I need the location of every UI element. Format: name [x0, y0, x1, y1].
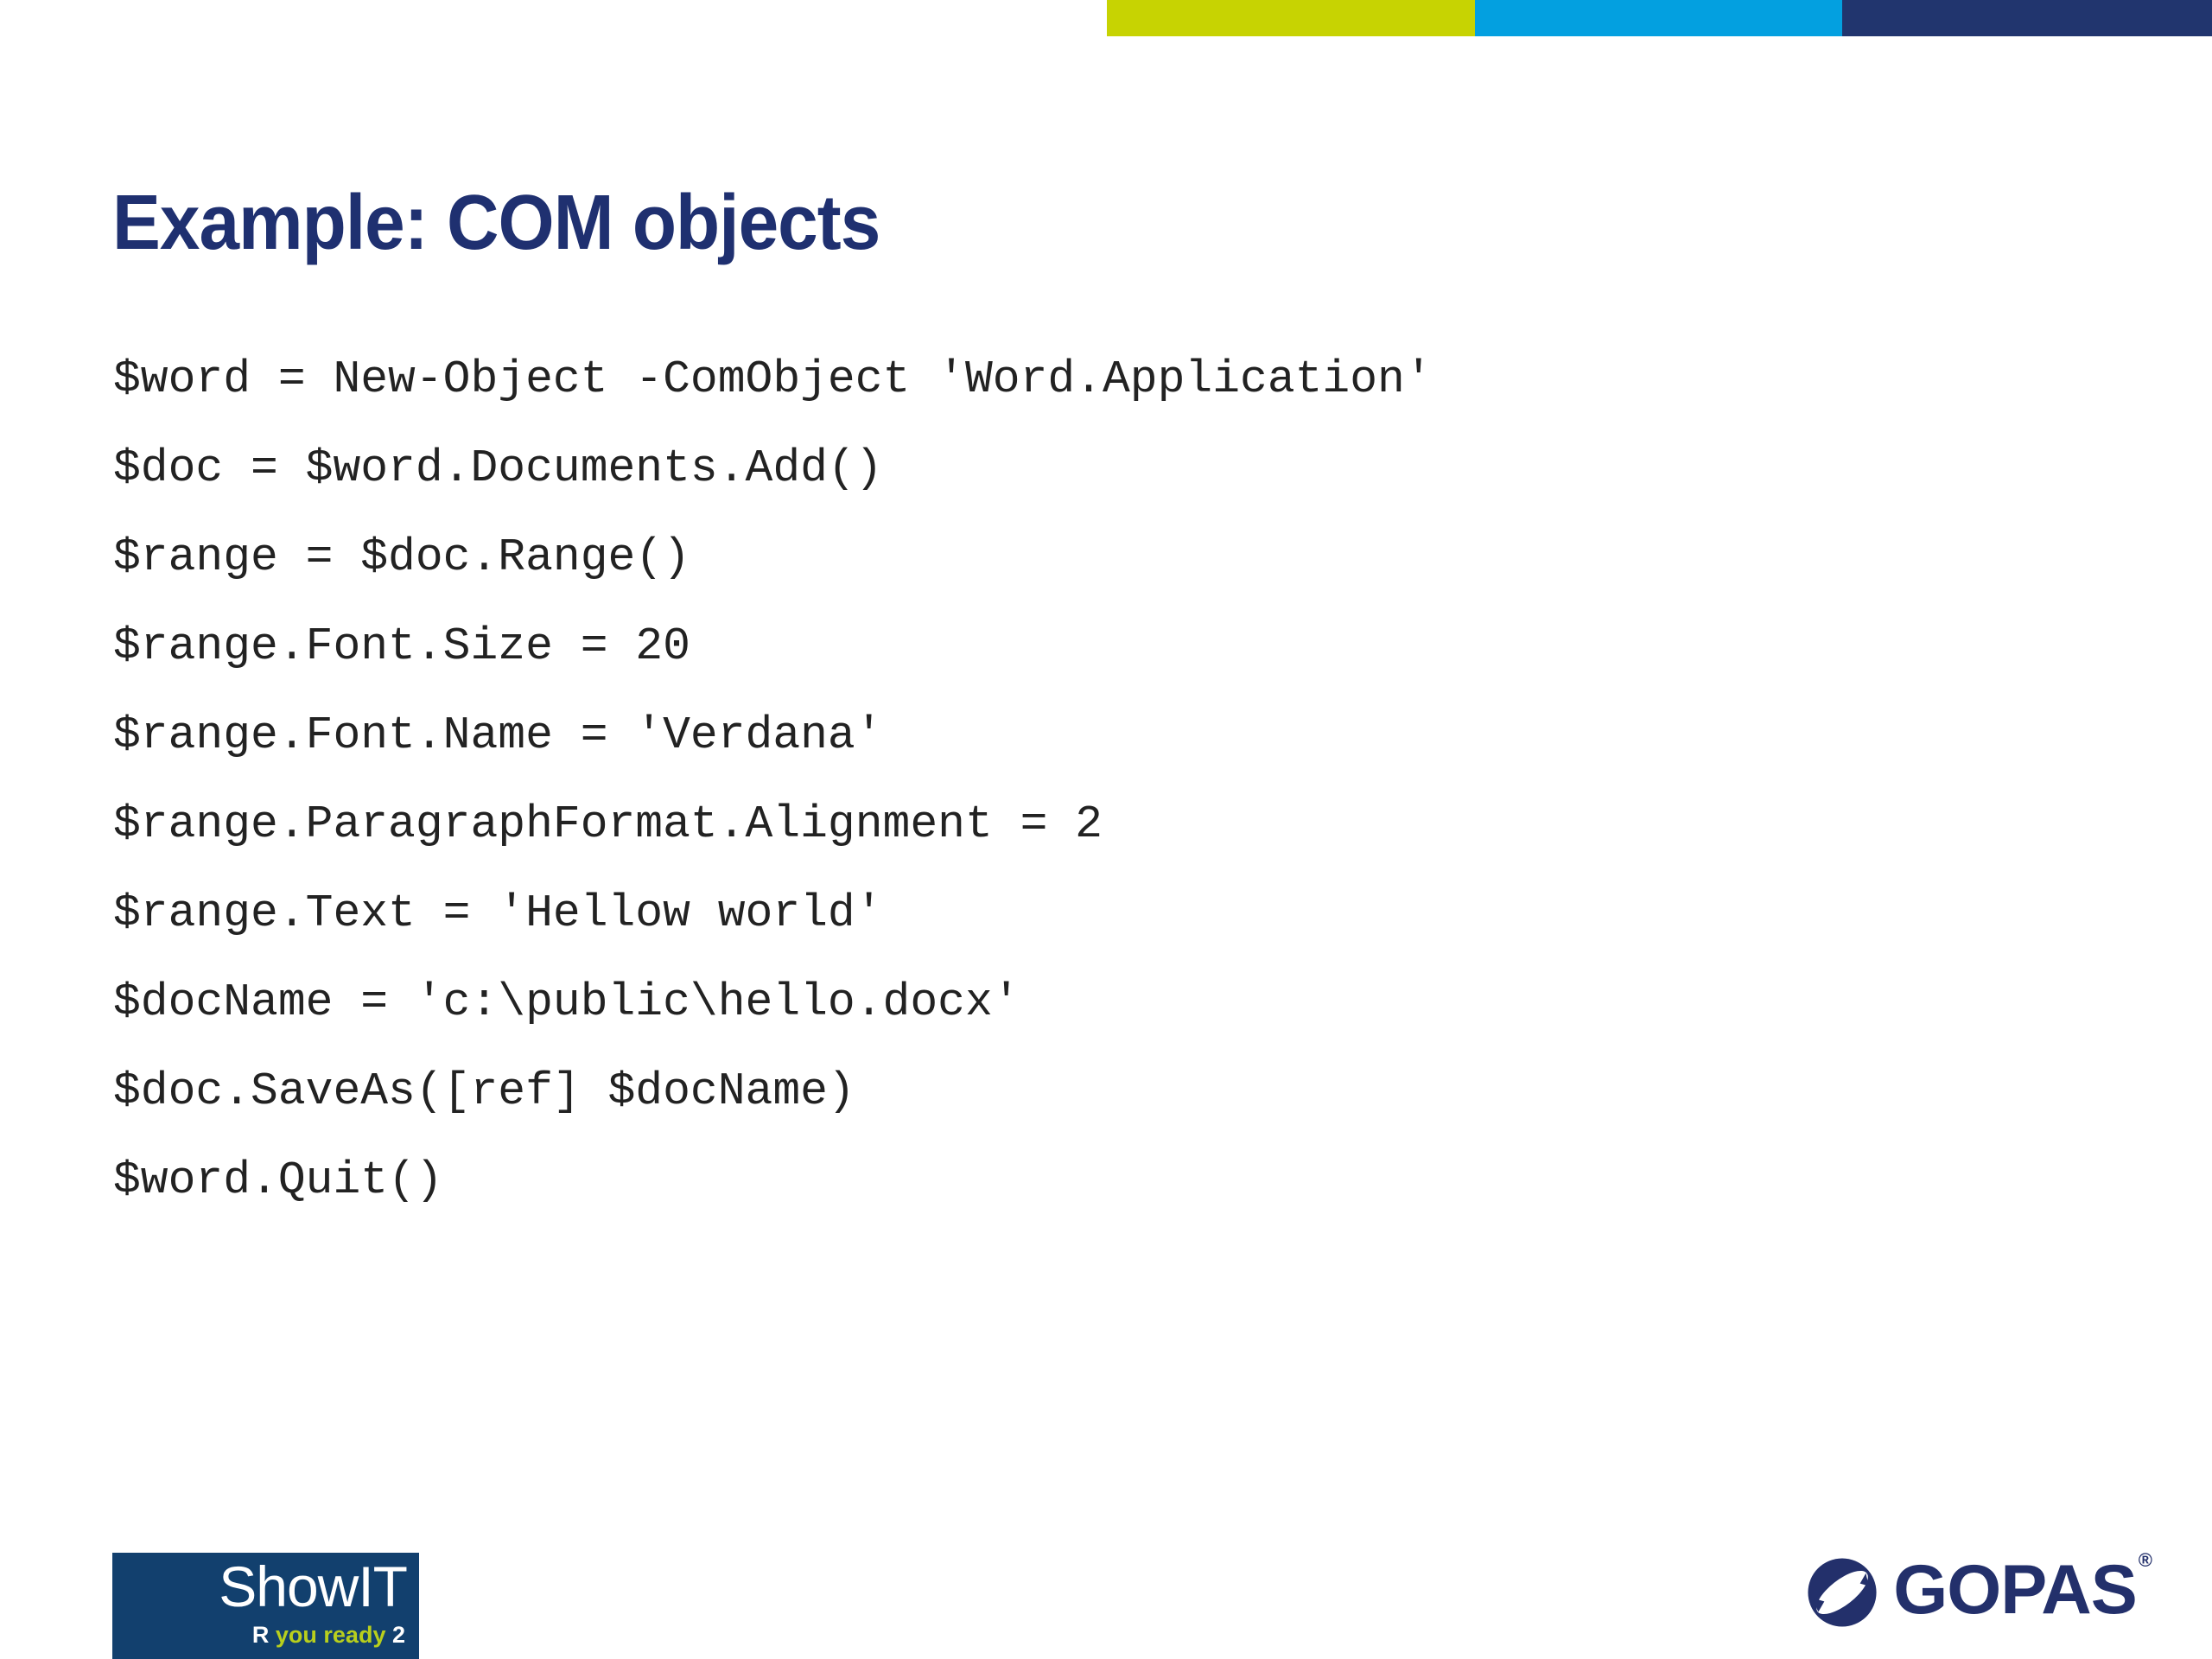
gopas-wordmark-text: GOPAS [1893, 1551, 2137, 1629]
showit-tagline-two: 2 [392, 1622, 405, 1648]
showit-tagline-r: R [252, 1622, 270, 1648]
showit-tagline-mid: you ready [269, 1622, 392, 1648]
gopas-circle-swoosh-icon [1805, 1555, 1879, 1630]
code-line: $doc.SaveAs([ref] $docName) [113, 1047, 2066, 1136]
page-title: Example: COM objects [112, 181, 1880, 265]
gopas-wordmark: GOPAS® [1893, 1555, 2150, 1625]
code-line: $range.Font.Size = 20 [113, 602, 2066, 691]
showit-logo: ShowIT R you ready 2 [112, 1553, 419, 1659]
code-block: $word = New-Object -ComObject 'Word.Appl… [113, 335, 2066, 1225]
top-color-bar [0, 0, 2212, 36]
code-line: $docName = 'c:\public\hello.docx' [113, 958, 2066, 1047]
gopas-logo: GOPAS® [1805, 1551, 2150, 1634]
code-line: $word.Quit() [113, 1136, 2066, 1225]
showit-wordmark: ShowIT [112, 1558, 407, 1615]
topbar-segment-navy [1842, 0, 2212, 36]
gopas-registered-mark: ® [2139, 1549, 2152, 1571]
showit-tagline: R you ready 2 [112, 1624, 405, 1647]
code-line: $range.Font.Name = 'Verdana' [113, 691, 2066, 780]
code-line: $range.Text = 'Hellow world' [113, 869, 2066, 958]
code-line: $word = New-Object -ComObject 'Word.Appl… [113, 335, 2066, 424]
code-line: $doc = $word.Documents.Add() [113, 424, 2066, 513]
code-line: $range.ParagraphFormat.Alignment = 2 [113, 780, 2066, 869]
code-line: $range = $doc.Range() [113, 513, 2066, 602]
topbar-segment-cyan [1475, 0, 1842, 36]
topbar-segment-yellow [1107, 0, 1475, 36]
